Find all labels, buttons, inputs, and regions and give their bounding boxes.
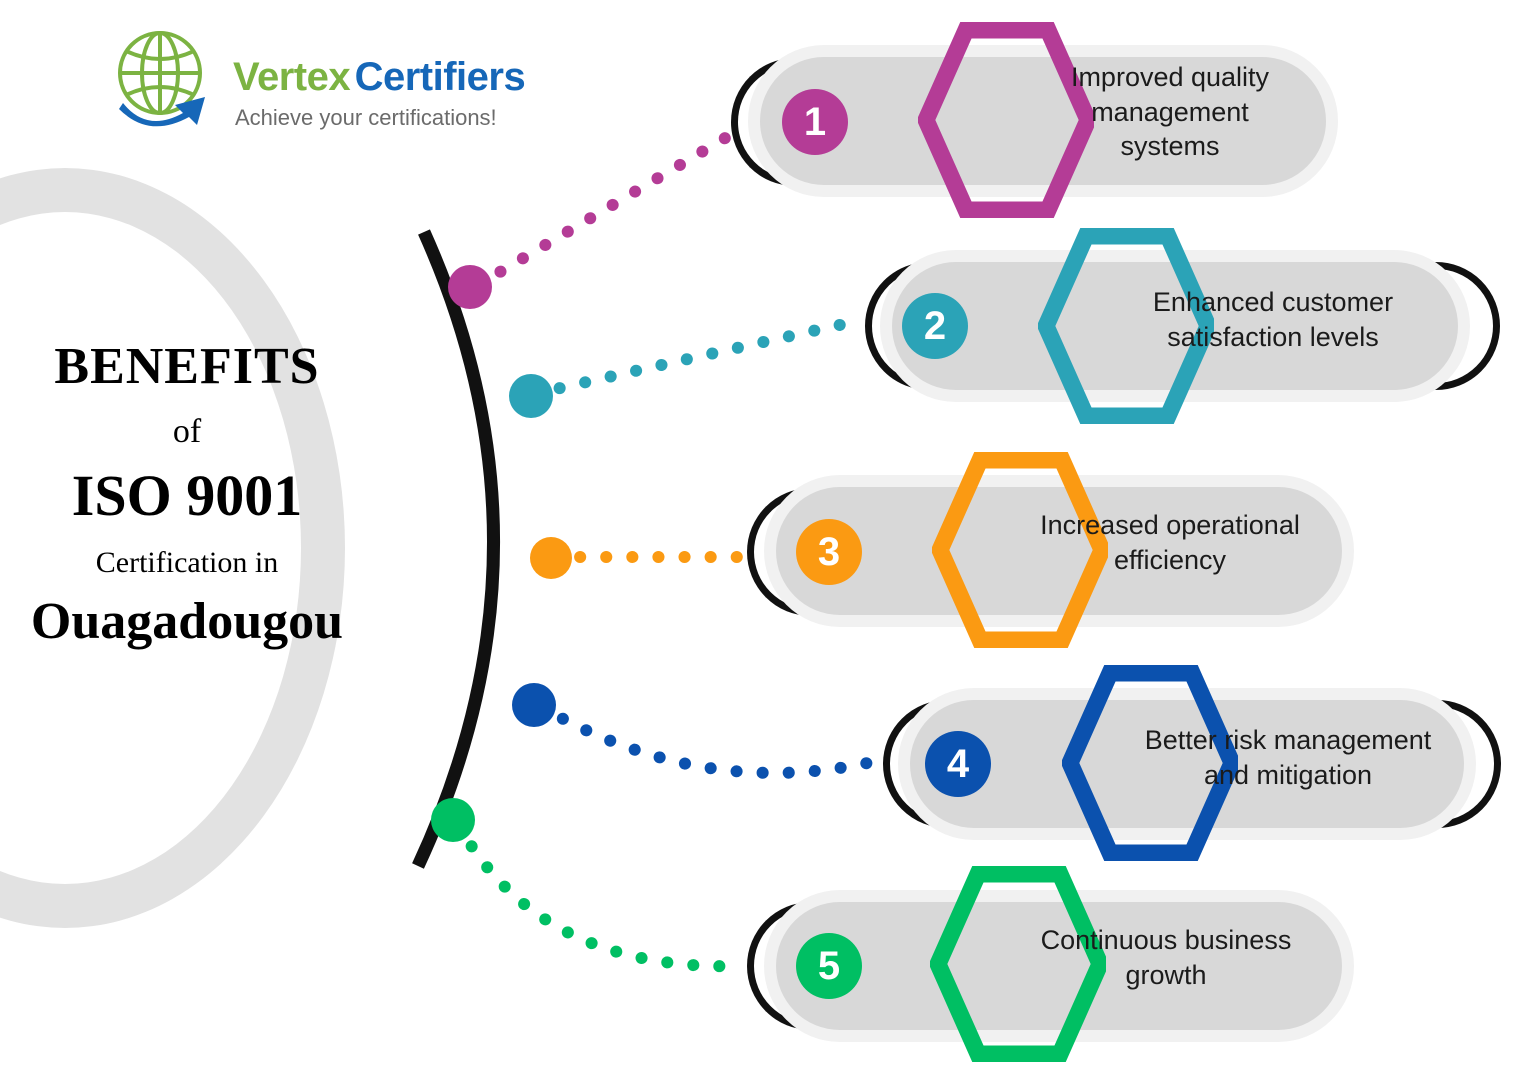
timeline-node-2	[509, 374, 553, 418]
card-3-number: 3	[818, 530, 840, 575]
brand-name-part1: Vertex	[233, 55, 350, 99]
card-1-text: Improved quality management systems	[960, 60, 1380, 164]
card-3-text: Increased operational efficiency	[970, 508, 1370, 577]
connector-dotted-5	[458, 824, 742, 966]
brand-name-part2: Certifiers	[355, 55, 526, 99]
title-line-certification: Certification in	[12, 536, 362, 590]
card-4-number-badge: 4	[925, 731, 991, 797]
brand-tagline: Achieve your certifications!	[235, 105, 497, 131]
card-1-number: 1	[804, 100, 826, 145]
connector-dotted-1	[478, 128, 742, 285]
title-line-city: Ouagadougou	[12, 592, 362, 652]
card-3-number-badge: 3	[796, 519, 862, 585]
connector-dotted-2	[534, 320, 862, 394]
card-2-number-badge: 2	[902, 293, 968, 359]
timeline-node-5	[431, 798, 475, 842]
card-4-text: Better risk management and mitigation	[1098, 723, 1478, 792]
brand-logo: Vertex Certifiers Achieve your certifica…	[105, 25, 525, 140]
card-2-text: Enhanced customer satisfaction levels	[1078, 285, 1468, 354]
timeline-arc	[418, 232, 494, 866]
globe-arrow-icon	[105, 25, 225, 135]
card-5-number: 5	[818, 944, 840, 989]
timeline-node-3	[530, 537, 572, 579]
title-line-of: of	[12, 405, 362, 459]
card-2-number: 2	[924, 304, 946, 349]
card-5-text: Continuous business growth	[966, 923, 1366, 992]
infographic-canvas: Vertex Certifiers Achieve your certifica…	[0, 0, 1536, 1090]
timeline-node-4	[512, 683, 556, 727]
card-1-number-badge: 1	[782, 89, 848, 155]
timeline-node-1	[448, 265, 492, 309]
card-5-number-badge: 5	[796, 933, 862, 999]
card-4-number: 4	[947, 742, 969, 787]
title-line-benefits: BENEFITS	[12, 340, 362, 395]
connector-dotted-4	[540, 706, 872, 773]
title-line-standard: ISO 9001	[12, 463, 362, 530]
brand-name: Vertex Certifiers	[233, 55, 525, 100]
page-title: BENEFITS of ISO 9001 Certification in Ou…	[12, 340, 362, 651]
